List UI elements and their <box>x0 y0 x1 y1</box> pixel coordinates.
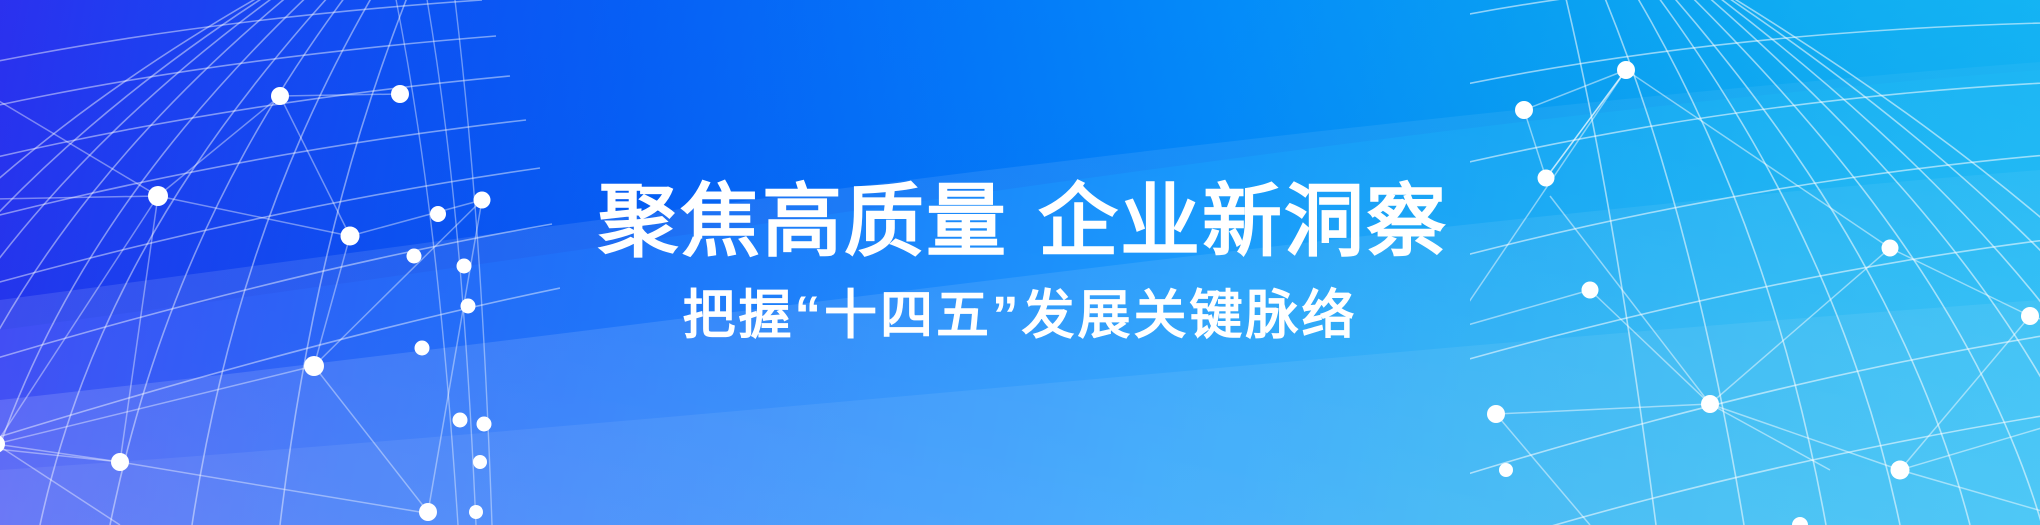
page-title-part-1: 聚焦高质量 <box>598 177 1008 266</box>
banner-text-block: 聚焦高质量企业新洞察 把握“十四五”发展关键脉络 <box>0 0 2040 525</box>
page-title: 聚焦高质量企业新洞察 <box>592 180 1448 263</box>
page-subtitle: 把握“十四五”发展关键脉络 <box>683 287 1358 345</box>
hero-banner: 聚焦高质量企业新洞察 把握“十四五”发展关键脉络 <box>0 0 2040 525</box>
page-title-part-2: 企业新洞察 <box>1038 177 1448 266</box>
